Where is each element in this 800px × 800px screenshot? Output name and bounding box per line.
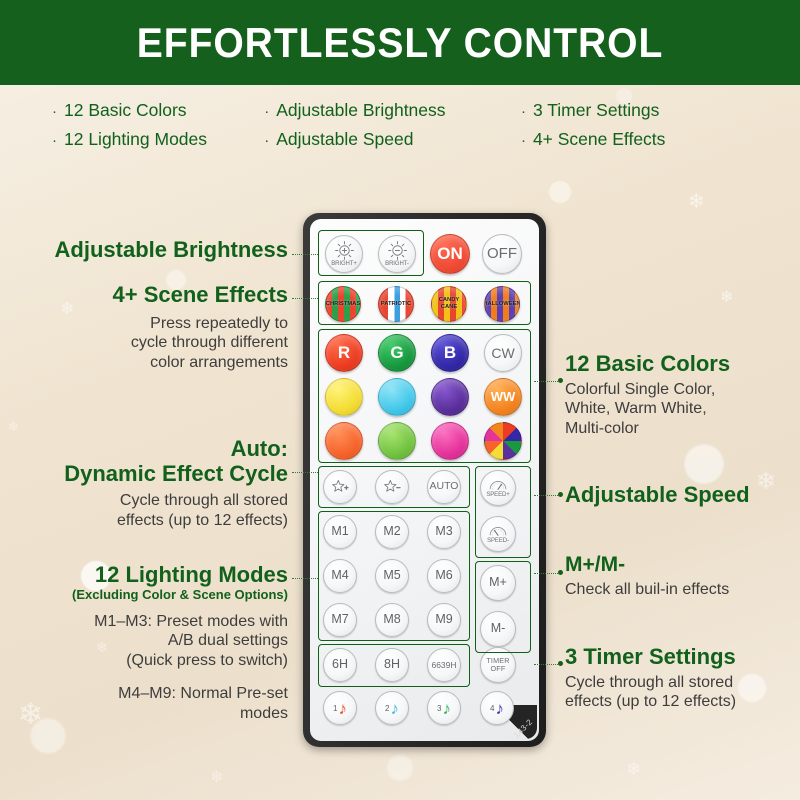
speed-up-button[interactable]: SPEED+ <box>480 470 516 506</box>
color-warm-white-label: WW <box>491 390 516 404</box>
off-button[interactable]: OFF <box>482 234 522 274</box>
gauge-icon <box>488 478 508 492</box>
color-multicolor-button[interactable] <box>484 422 522 460</box>
color-yellow-button[interactable] <box>325 378 363 416</box>
color-cyan-button[interactable] <box>378 378 416 416</box>
leader-line <box>292 254 318 255</box>
annotation-sub-line: Press repeatedly to <box>30 314 288 334</box>
leader-dot <box>558 492 563 497</box>
music-note-icon: ♪ <box>495 700 504 717</box>
mode-m9-button[interactable]: M9 <box>427 603 461 637</box>
bullet-icon: · <box>521 103 526 120</box>
music-2-button[interactable]: 2 ♪ <box>375 691 409 725</box>
annotation-auto-dynamic: Auto: Dynamic Effect Cycle Cycle through… <box>20 437 288 530</box>
annotation-sub-line: Cycle through all stored <box>20 491 288 511</box>
annotation-sub-line: Multi-color <box>565 419 795 439</box>
annotation-subgreen: (Excluding Color & Scene Options) <box>20 588 288 603</box>
star-plus-button[interactable] <box>323 470 357 504</box>
star-minus-icon <box>383 478 402 496</box>
leader-line <box>292 298 318 299</box>
auto-label: AUTO <box>430 481 459 492</box>
mode-m3-button[interactable]: M3 <box>427 515 461 549</box>
timer-label: 6639H <box>431 661 456 670</box>
m-minus-button[interactable]: M- <box>480 611 516 647</box>
feature-item: ·12 Basic Colors <box>52 100 264 121</box>
feature-bullets: ·12 Basic Colors ·12 Lighting Modes ·Adj… <box>0 100 800 162</box>
scene-christmas-button[interactable]: CHRISTMAS <box>325 286 361 322</box>
feature-item: ·Adjustable Speed <box>264 129 521 150</box>
annotation-sub-line: White, Warm White, <box>565 399 795 419</box>
annotation-sub-spacer <box>20 670 288 684</box>
leader-dot <box>558 570 563 575</box>
mode-label: M6 <box>435 569 452 582</box>
mode-m7-button[interactable]: M7 <box>323 603 357 637</box>
scene-patriotic-button[interactable]: PATRIOTIC <box>378 286 414 322</box>
scene-candy-cane-label: CANDY CANE <box>432 297 466 310</box>
page-header: EFFORTLESSLY CONTROL <box>0 0 800 85</box>
bullet-icon: · <box>264 132 269 149</box>
gauge-icon <box>488 524 508 538</box>
annotation-heading: M+/M- <box>565 553 795 577</box>
auto-button[interactable]: AUTO <box>427 470 461 504</box>
leader-dot <box>558 661 563 666</box>
bullet-icon: · <box>52 132 57 149</box>
timer-6639h-button[interactable]: 6639H <box>427 648 461 682</box>
annotation-sub-line: M1–M3: Preset modes with <box>20 612 288 632</box>
music-1-number: 1 <box>333 704 337 713</box>
bright-up-button[interactable]: BRIGHT+ <box>325 235 363 273</box>
remote-control: BRIGHT+ BRIGHT- ON OFF CHRISTMAS <box>303 213 546 747</box>
leader-line <box>534 495 560 496</box>
mode-label: M7 <box>331 613 348 626</box>
music-3-number: 3 <box>437 704 441 713</box>
annotation-sub-line: M4–M9: Normal Pre-set <box>20 684 288 704</box>
mode-label: M2 <box>383 525 400 538</box>
scene-halloween-button[interactable]: HALLOWEEN <box>484 286 520 322</box>
annotation-heading: 12 Basic Colors <box>565 352 795 377</box>
timer-off-button[interactable]: TIMER OFF <box>480 647 516 683</box>
timer-6h-button[interactable]: 6H <box>323 648 357 682</box>
color-green-label: G <box>390 344 403 362</box>
mode-label: M3 <box>435 525 452 538</box>
annotation-scene-effects: 4+ Scene Effects Press repeatedly to cyc… <box>30 283 288 372</box>
mode-label: M8 <box>383 613 400 626</box>
speed-down-button[interactable]: SPEED- <box>480 516 516 552</box>
on-button[interactable]: ON <box>430 234 470 274</box>
annotation-heading: Auto: <box>20 437 288 462</box>
bright-down-label: BRIGHT- <box>385 261 409 267</box>
color-cool-white-button[interactable]: CW <box>484 334 522 372</box>
annotation-heading: 12 Lighting Modes <box>20 563 288 588</box>
color-green-button[interactable]: G <box>378 334 416 372</box>
leader-dot <box>558 378 563 383</box>
music-4-button[interactable]: 4 ♪ <box>480 691 514 725</box>
annotation-sub-line: (Quick press to switch) <box>20 651 288 671</box>
annotation-sub-line: Colorful Single Color, <box>565 380 795 400</box>
feature-column-1: ·12 Basic Colors ·12 Lighting Modes <box>52 100 264 162</box>
bullet-icon: · <box>521 132 526 149</box>
scene-halloween-label: HALLOWEEN <box>484 301 520 308</box>
bright-up-label: BRIGHT+ <box>331 261 356 267</box>
speed-up-label: SPEED+ <box>486 492 509 498</box>
timer-8h-button[interactable]: 8H <box>375 648 409 682</box>
annotation-heading: Adjustable Speed <box>565 483 795 508</box>
annotation-heading: 4+ Scene Effects <box>30 283 288 308</box>
bright-down-button[interactable]: BRIGHT- <box>378 235 416 273</box>
mode-m2-button[interactable]: M2 <box>375 515 409 549</box>
bullet-icon: · <box>52 103 57 120</box>
annotation-sub-line: A/B dual settings <box>20 631 288 651</box>
m-minus-label: M- <box>491 622 506 635</box>
star-minus-button[interactable] <box>375 470 409 504</box>
annotation-sub-line: color arrangements <box>30 353 288 373</box>
annotation-sub-line: effects (up to 12 effects) <box>20 511 288 531</box>
color-orange-button[interactable] <box>325 422 363 460</box>
music-2-number: 2 <box>385 704 389 713</box>
timer-label: 6H <box>332 658 348 671</box>
annotation-sub-line: Cycle through all stored <box>565 673 795 693</box>
feature-item: ·3 Timer Settings <box>521 100 748 121</box>
timer-off-line2: OFF <box>491 665 506 673</box>
m-plus-label: M+ <box>489 576 507 589</box>
scene-patriotic-label: PATRIOTIC <box>381 301 411 308</box>
scene-christmas-label: CHRISTMAS <box>326 301 360 308</box>
leader-line <box>534 381 560 382</box>
remote-face: BRIGHT+ BRIGHT- ON OFF CHRISTMAS <box>310 219 539 741</box>
annotation-adjustable-speed: Adjustable Speed <box>565 483 795 508</box>
feature-label: Adjustable Brightness <box>276 100 445 121</box>
feature-label: 12 Basic Colors <box>64 100 187 121</box>
annotation-lighting-modes: 12 Lighting Modes (Excluding Color & Sce… <box>20 563 288 723</box>
mode-label: M1 <box>331 525 348 538</box>
mode-m5-button[interactable]: M5 <box>375 559 409 593</box>
annotation-heading: 3 Timer Settings <box>565 645 795 670</box>
mode-label: M5 <box>383 569 400 582</box>
annotation-heading-2: Dynamic Effect Cycle <box>20 462 288 487</box>
music-4-number: 4 <box>490 704 494 713</box>
music-note-icon: ♪ <box>390 700 399 717</box>
music-1-button[interactable]: 1 ♪ <box>323 691 357 725</box>
m-plus-button[interactable]: M+ <box>480 565 516 601</box>
annotation-timer-settings: 3 Timer Settings Cycle through all store… <box>565 645 795 712</box>
annotation-basic-colors: 12 Basic Colors Colorful Single Color, W… <box>565 352 795 438</box>
speed-down-label: SPEED- <box>487 538 509 544</box>
on-label: ON <box>437 245 463 263</box>
sun-minus-icon <box>387 240 408 261</box>
mode-m4-button[interactable]: M4 <box>323 559 357 593</box>
star-plus-icon <box>331 478 350 496</box>
mode-label: M9 <box>435 613 452 626</box>
color-warm-white-button[interactable]: WW <box>484 378 522 416</box>
annotation-sub-line: modes <box>20 704 288 724</box>
feature-label: 12 Lighting Modes <box>64 129 207 150</box>
leader-line <box>292 472 318 473</box>
leader-line <box>292 578 318 579</box>
music-3-button[interactable]: 3 ♪ <box>427 691 461 725</box>
color-red-button[interactable]: R <box>325 334 363 372</box>
off-label: OFF <box>487 246 517 262</box>
annotation-sub-line: effects (up to 12 effects) <box>565 692 795 712</box>
leader-line <box>534 573 560 574</box>
color-magenta-button[interactable] <box>431 422 469 460</box>
mode-label: M4 <box>331 569 348 582</box>
music-note-icon: ♪ <box>442 700 451 717</box>
color-cool-white-label: CW <box>491 346 514 361</box>
annotation-sub-line: Check all buil-in effects <box>565 580 795 600</box>
color-purple-button[interactable] <box>431 378 469 416</box>
mode-m8-button[interactable]: M8 <box>375 603 409 637</box>
feature-column-2: ·Adjustable Brightness ·Adjustable Speed <box>264 100 521 162</box>
color-blue-button[interactable]: B <box>431 334 469 372</box>
model-label-text: 143-2 <box>512 717 534 739</box>
feature-label: Adjustable Speed <box>276 129 413 150</box>
sun-plus-icon <box>334 240 355 261</box>
bullet-icon: · <box>264 103 269 120</box>
annotation-adjustable-brightness: Adjustable Brightness <box>30 238 288 263</box>
leader-line <box>534 664 560 665</box>
annotation-sub-line: cycle through different <box>30 333 288 353</box>
color-red-label: R <box>338 344 350 362</box>
feature-column-3: ·3 Timer Settings ·4+ Scene Effects <box>521 100 748 162</box>
scene-candy-cane-button[interactable]: CANDY CANE <box>431 286 467 322</box>
feature-item: ·Adjustable Brightness <box>264 100 521 121</box>
timer-label: 8H <box>384 658 400 671</box>
feature-item: ·4+ Scene Effects <box>521 129 748 150</box>
mode-m6-button[interactable]: M6 <box>427 559 461 593</box>
color-lime-button[interactable] <box>378 422 416 460</box>
color-blue-label: B <box>444 344 456 362</box>
music-note-icon: ♪ <box>338 700 347 717</box>
mode-m1-button[interactable]: M1 <box>323 515 357 549</box>
feature-item: ·12 Lighting Modes <box>52 129 264 150</box>
feature-label: 3 Timer Settings <box>533 100 659 121</box>
annotation-heading: Adjustable Brightness <box>30 238 288 263</box>
annotation-m-plus-minus: M+/M- Check all buil-in effects <box>565 553 795 599</box>
feature-label: 4+ Scene Effects <box>533 129 665 150</box>
page-title: EFFORTLESSLY CONTROL <box>137 19 663 67</box>
